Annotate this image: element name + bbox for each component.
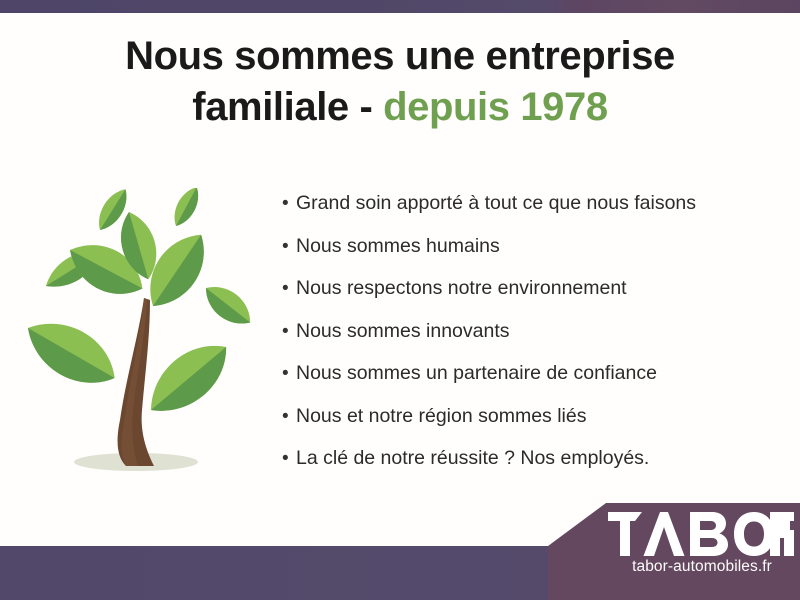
title-line-2: familiale - depuis 1978 [0, 85, 800, 130]
list-item-label: Nous respectons notre environnement [296, 275, 627, 302]
top-accent-bar [0, 0, 800, 13]
page-title: Nous sommes une entreprise familiale - d… [0, 34, 800, 130]
brand-url[interactable]: tabor-automobiles.fr [608, 558, 796, 576]
list-item-label: La clé de notre réussite ? Nos employés. [296, 445, 649, 472]
bullet-list: • Grand soin apporté à tout ce que nous … [282, 190, 782, 488]
list-item-label: Grand soin apporté à tout ce que nous fa… [296, 190, 696, 217]
list-item-label: Nous et notre région sommes liés [296, 403, 586, 430]
bullet-marker-icon: • [282, 403, 296, 430]
list-item: • Nous sommes humains [282, 233, 782, 260]
leaf-right-lower [137, 330, 241, 427]
bullet-marker-icon: • [282, 360, 296, 387]
list-item: • Nous sommes innovants [282, 318, 782, 345]
list-item: • La clé de notre réussite ? Nos employé… [282, 445, 782, 472]
slide-canvas: Nous sommes une entreprise familiale - d… [0, 0, 800, 600]
title-line-2-plain: familiale - [192, 85, 383, 129]
list-item: • Nous sommes un partenaire de confiance [282, 360, 782, 387]
bullet-marker-icon: • [282, 275, 296, 302]
bullet-marker-icon: • [282, 233, 296, 260]
list-item: • Nous et notre région sommes liés [282, 403, 782, 430]
bullet-marker-icon: • [282, 190, 296, 217]
title-line-2-accent: depuis 1978 [383, 85, 608, 129]
leaf-top-right-small [168, 188, 205, 230]
tree-illustration [14, 188, 264, 488]
bullet-marker-icon: • [282, 318, 296, 345]
bullet-marker-icon: • [282, 445, 296, 472]
list-item: • Nous respectons notre environnement [282, 275, 782, 302]
brand-logo[interactable]: tabor-automobiles.fr [608, 512, 796, 576]
list-item-label: Nous sommes un partenaire de confiance [296, 360, 657, 387]
leaf-left-lower [16, 307, 127, 399]
leaf-far-right [198, 277, 259, 333]
title-line-1: Nous sommes une entreprise [0, 34, 800, 79]
tabor-wordmark-icon [608, 512, 796, 556]
list-item-label: Nous sommes innovants [296, 318, 510, 345]
list-item: • Grand soin apporté à tout ce que nous … [282, 190, 782, 217]
list-item-label: Nous sommes humains [296, 233, 500, 260]
